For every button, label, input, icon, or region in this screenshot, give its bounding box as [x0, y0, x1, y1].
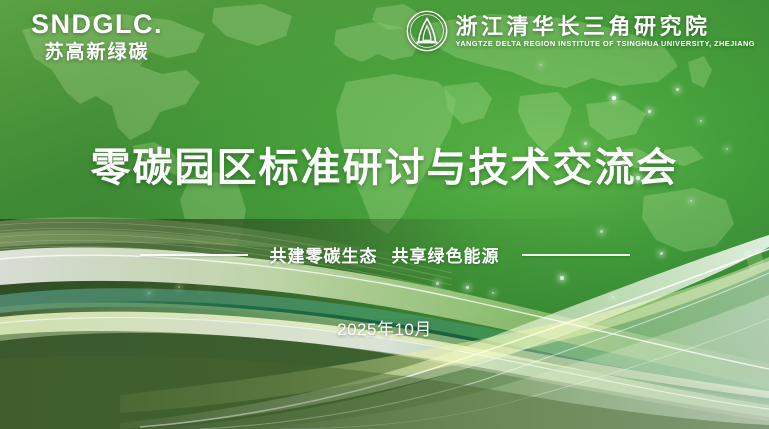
- brand-wordmark: SNDGLC.: [22, 11, 172, 38]
- subtitle-row: 共建零碳生态共享绿色能源: [0, 242, 769, 267]
- institute-name-cn: 浙江清华长三角研究院: [456, 15, 756, 38]
- conference-banner: SNDGLC. 苏高新绿碳 浙江清华长三角研究院 YANGTZE DELTA R…: [0, 0, 769, 429]
- subtitle-rule-right: [522, 254, 630, 256]
- subtitle: 共建零碳生态共享绿色能源: [270, 242, 500, 267]
- institute-name-en: YANGTZE DELTA REGION INSTITUTE OF TSINGH…: [456, 40, 756, 47]
- tsinghua-institute-seal-icon: [406, 10, 448, 52]
- wave-ribbons-icon: [0, 199, 769, 429]
- page-title: 零碳园区标准研讨与技术交流会: [0, 148, 769, 188]
- event-date: 2025年10月: [0, 315, 769, 340]
- sndglc-logo[interactable]: SNDGLC. 苏高新绿碳: [22, 11, 172, 62]
- subtitle-right-text: 共享绿色能源: [392, 247, 500, 266]
- institute-logo[interactable]: 浙江清华长三角研究院 YANGTZE DELTA REGION INSTITUT…: [406, 10, 756, 52]
- subtitle-left-text: 共建零碳生态: [270, 247, 378, 266]
- subtitle-rule-left: [140, 254, 248, 256]
- brand-wordmark-cn: 苏高新绿碳: [22, 43, 172, 62]
